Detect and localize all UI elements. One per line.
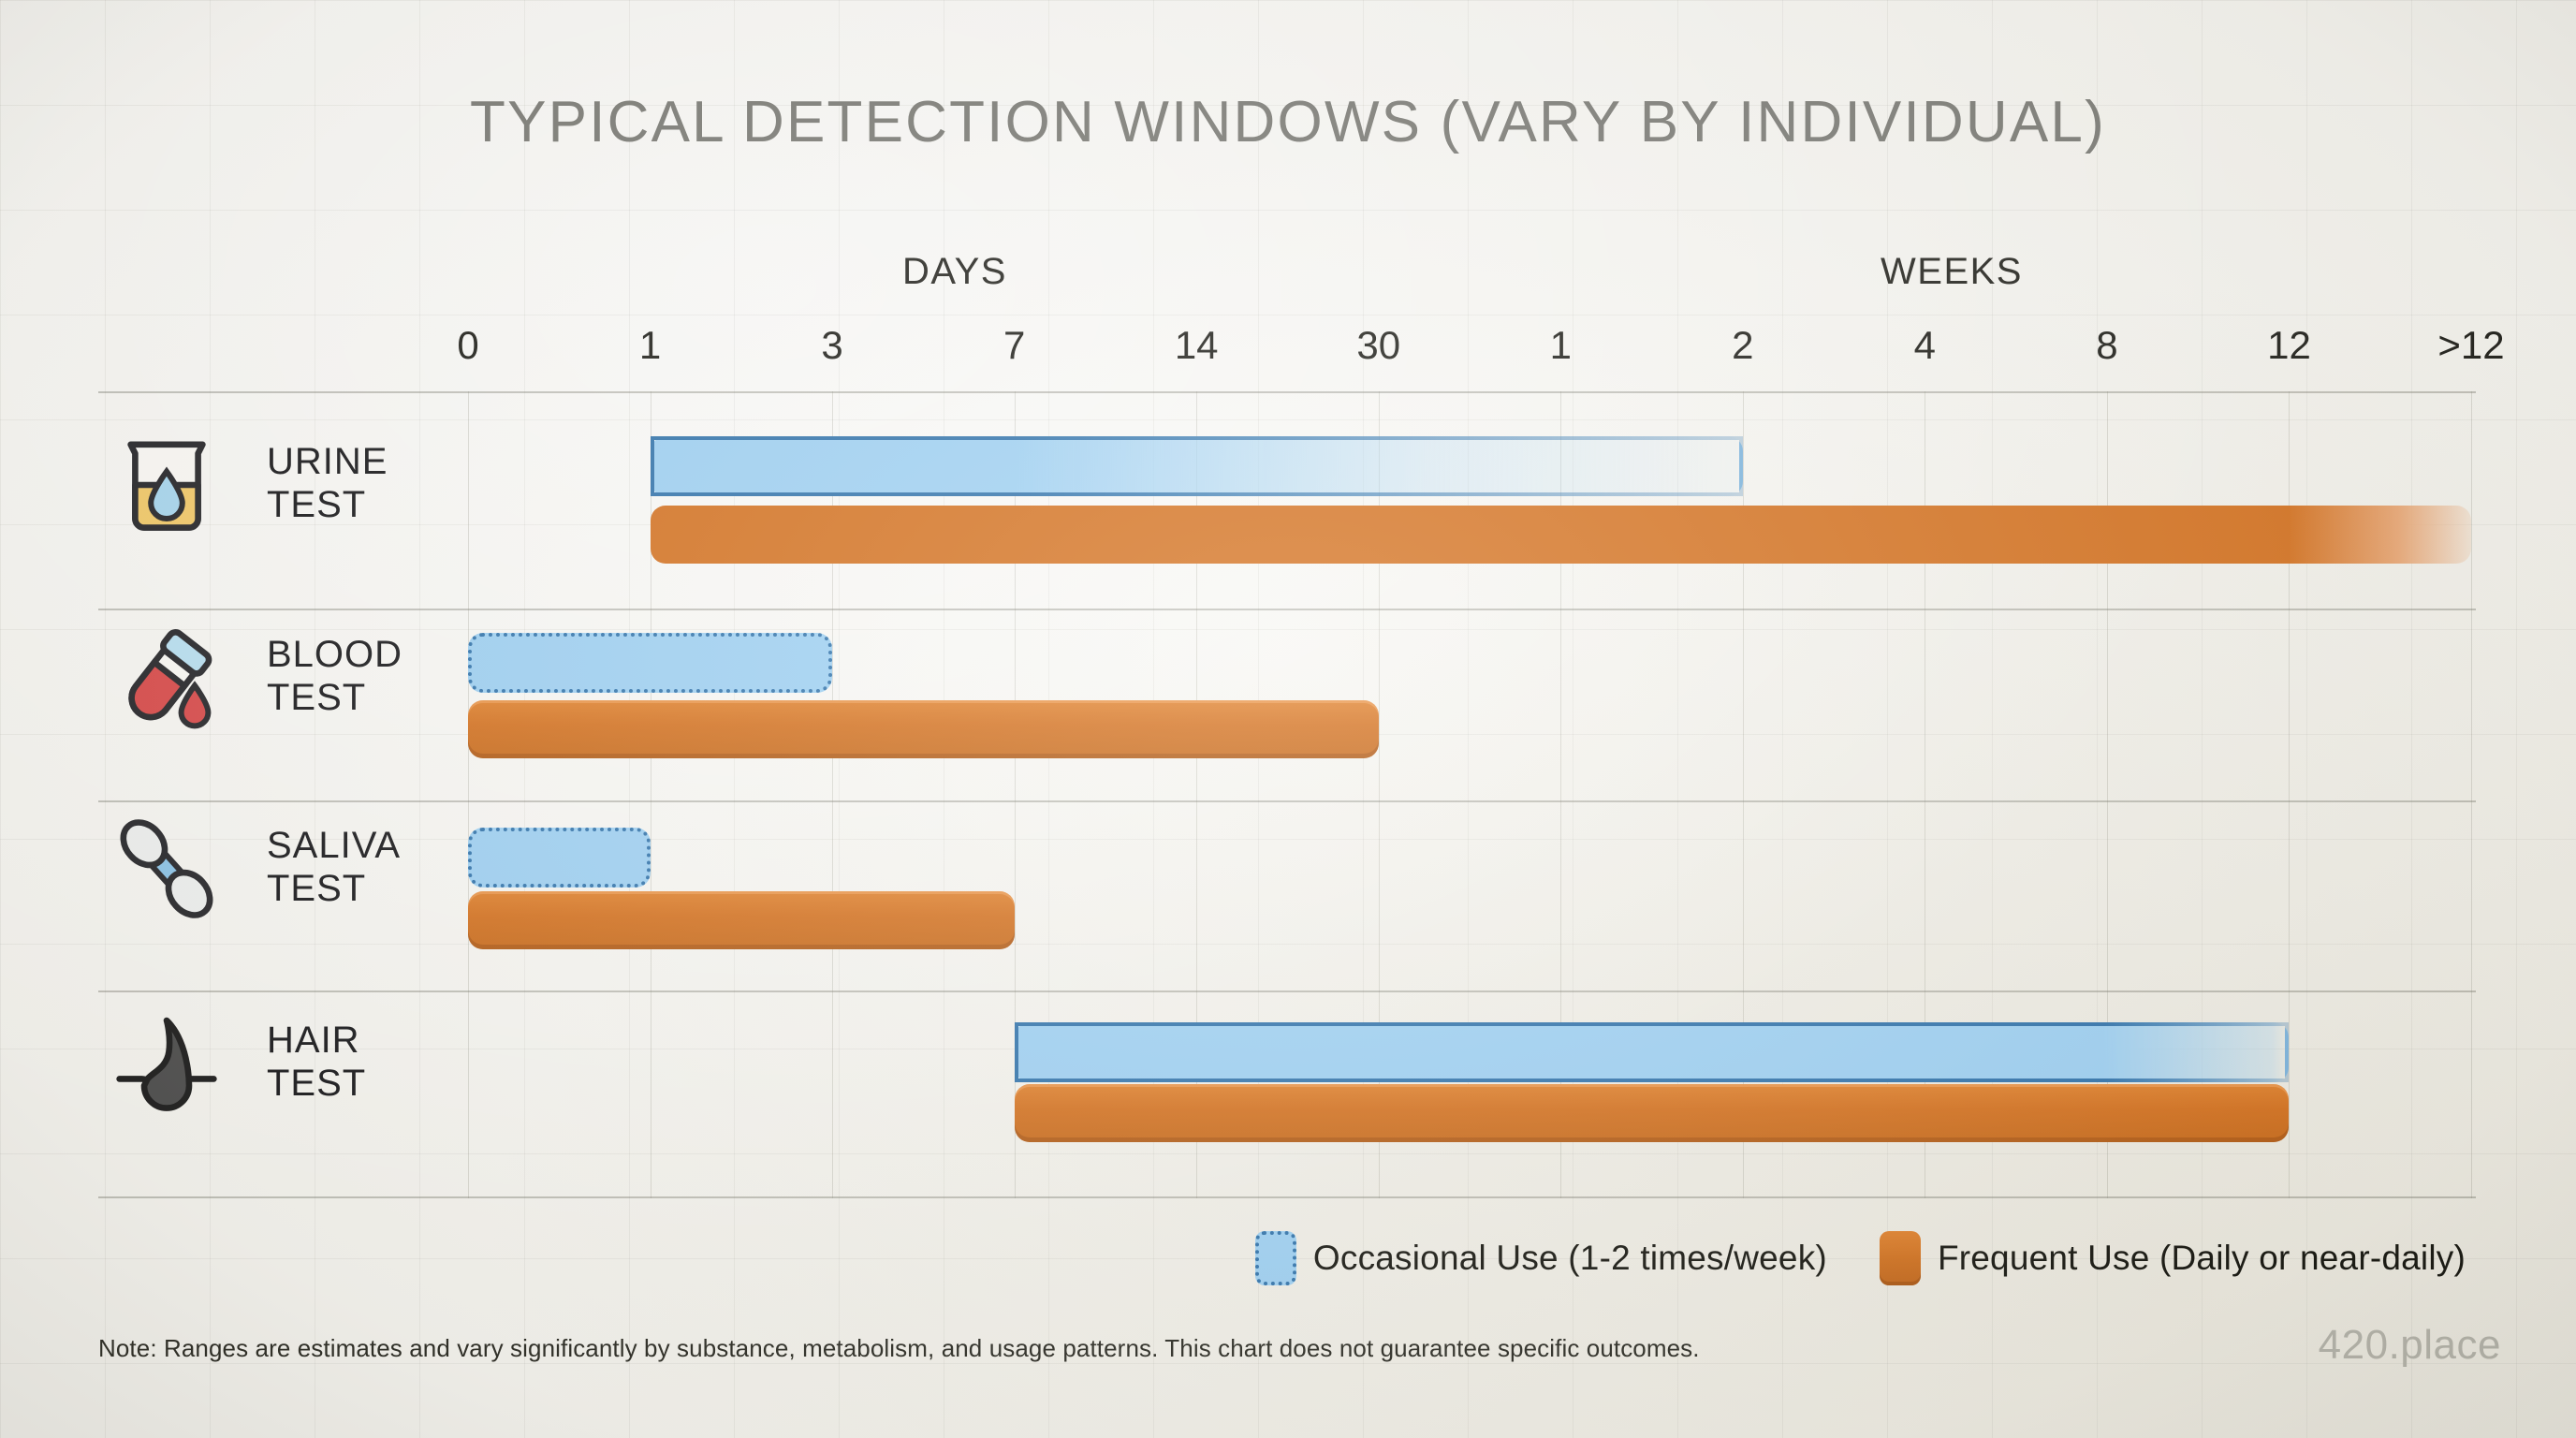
- bar-frequent-hair-test[interactable]: [1015, 1084, 2290, 1142]
- row-separator: [98, 391, 2476, 393]
- row-label-line1: URINE: [267, 440, 388, 483]
- axis-tick-label: 2: [1732, 323, 1753, 368]
- bar-frequent-urine-test[interactable]: [651, 506, 2471, 564]
- legend-swatch-occasional-icon: [1255, 1231, 1296, 1285]
- row-label-line2: TEST: [267, 1062, 366, 1105]
- bar-frequent-blood-test[interactable]: [468, 700, 1379, 758]
- axis-gridline: [651, 391, 651, 1198]
- axis-tick-label: 7: [1003, 323, 1025, 368]
- axis-tick-label: 8: [2096, 323, 2117, 368]
- blood-vial-icon: [110, 623, 223, 735]
- axis-tick-label: 1: [639, 323, 661, 368]
- axis-tick-label: 0: [457, 323, 478, 368]
- urine-beaker-icon: [110, 429, 223, 541]
- bar-occasional-saliva-test[interactable]: [468, 828, 651, 888]
- axis-tick-label: 14: [1175, 323, 1219, 368]
- hair-follicle-icon: [110, 1009, 223, 1122]
- watermark: 420.place: [2319, 1322, 2501, 1369]
- detection-window-chart: TYPICAL DETECTION WINDOWS (VARY BY INDIV…: [0, 0, 2576, 1438]
- legend-item-occasional[interactable]: Occasional Use (1-2 times/week): [1255, 1231, 1827, 1285]
- axis-gridline: [2471, 391, 2472, 1198]
- axis-group-label-weeks: WEEKS: [1881, 251, 2023, 293]
- row-separator: [98, 990, 2476, 992]
- bar-occasional-hair-test[interactable]: [1015, 1022, 2290, 1082]
- row-label-line1: BLOOD: [267, 633, 402, 676]
- row-separator: [98, 800, 2476, 802]
- axis-gridline: [468, 391, 469, 1198]
- legend-label-occasional: Occasional Use (1-2 times/week): [1313, 1239, 1827, 1278]
- axis-tick-label: 1: [1550, 323, 1572, 368]
- axis-tick-label: 4: [1914, 323, 1936, 368]
- row-label-urine: URINE TEST: [267, 440, 388, 526]
- axis-tick-label: >12: [2437, 323, 2504, 368]
- bar-occasional-urine-test[interactable]: [651, 436, 1743, 496]
- axis-tick-label: 30: [1356, 323, 1400, 368]
- bar-frequent-saliva-test[interactable]: [468, 891, 1015, 949]
- legend-item-frequent[interactable]: Frequent Use (Daily or near-daily): [1880, 1231, 2466, 1285]
- row-separator: [98, 1196, 2476, 1198]
- bar-occasional-blood-test[interactable]: [468, 633, 832, 693]
- row-label-hair: HAIR TEST: [267, 1019, 366, 1105]
- legend: Occasional Use (1-2 times/week) Frequent…: [1255, 1231, 2466, 1285]
- row-label-line2: TEST: [267, 483, 388, 526]
- axis-tick-label: 12: [2267, 323, 2311, 368]
- row-label-line1: HAIR: [267, 1019, 366, 1062]
- axis-tick-label: 3: [821, 323, 842, 368]
- saliva-swab-icon: [110, 813, 223, 925]
- legend-swatch-frequent-icon: [1880, 1231, 1921, 1285]
- row-label-line2: TEST: [267, 676, 402, 719]
- legend-label-frequent: Frequent Use (Daily or near-daily): [1938, 1239, 2466, 1278]
- row-label-blood: BLOOD TEST: [267, 633, 402, 719]
- axis-group-label-days: DAYS: [902, 251, 1007, 293]
- row-label-line2: TEST: [267, 867, 401, 910]
- row-label-line1: SALIVA: [267, 824, 401, 867]
- row-separator: [98, 609, 2476, 610]
- footnote: Note: Ranges are estimates and vary sign…: [98, 1334, 1700, 1363]
- page-title: TYPICAL DETECTION WINDOWS (VARY BY INDIV…: [0, 89, 2576, 155]
- row-label-saliva: SALIVA TEST: [267, 824, 401, 910]
